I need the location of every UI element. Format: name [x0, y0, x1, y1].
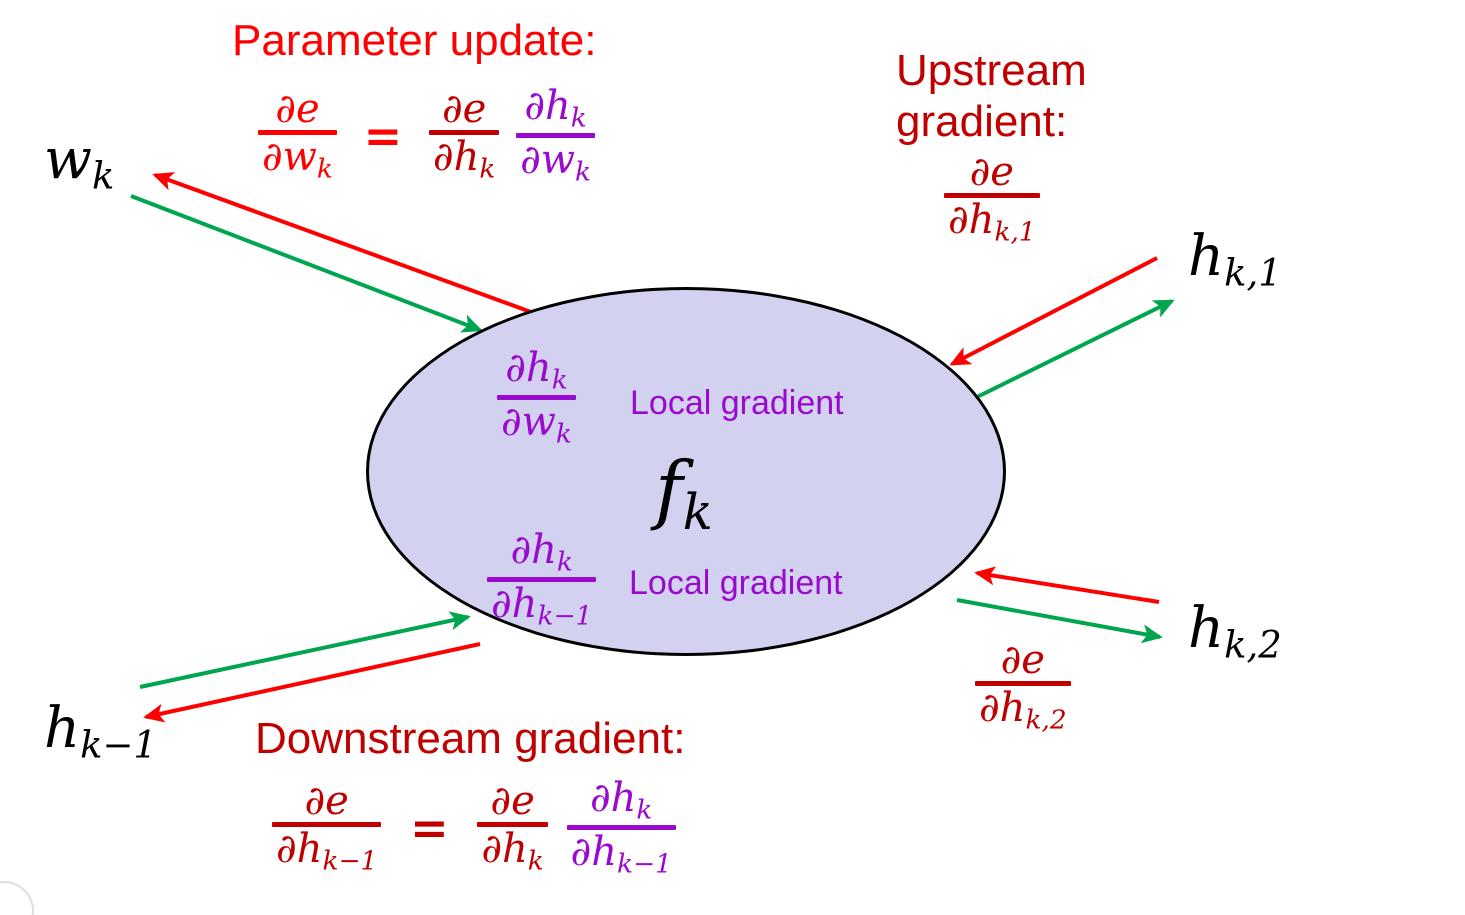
output-1-label: hk,1 — [1188, 229, 1282, 292]
pu-rhs1-num: ∂e — [442, 86, 486, 132]
arrow-backward-node-to-w — [155, 175, 531, 312]
o2g-den: ∂h — [979, 685, 1025, 731]
local-gradient-bottom-caption: Local gradient — [629, 565, 843, 601]
dg-rhs2-den: ∂h — [571, 829, 617, 875]
downstream-gradient-equation: ∂e ∂hk−1 = ∂e ∂hk ∂hk ∂hk−1 — [272, 778, 676, 878]
diagram-canvas: ∂hk ∂wk Local gradient fk ∂hk ∂hk−1 Loca… — [0, 0, 1465, 915]
parameter-update-lhs: ∂e ∂wk — [258, 89, 337, 183]
downstream-gradient-equals: = — [410, 805, 449, 851]
upstream-gradient-expression: ∂e ∂hk,1 — [944, 152, 1040, 246]
output-1-symbol: h — [1188, 224, 1224, 289]
output-1-sub: k,1 — [1224, 251, 1282, 294]
arrow-forward-w-to-node — [131, 196, 480, 330]
output-2-gradient-expression: ∂e ∂hk,2 — [975, 640, 1071, 734]
o2g-den-sub: k,2 — [1025, 704, 1066, 735]
pu-lhs-num: ∂e — [275, 86, 319, 132]
local-gradient-top-caption: Local gradient — [630, 385, 844, 421]
pu-rhs1-den: ∂h — [433, 134, 479, 180]
pu-rhs2-num: ∂h — [524, 83, 570, 129]
ug-num: ∂e — [970, 149, 1014, 195]
arrow-forward-node-to-hk1 — [975, 301, 1172, 398]
local-gradient-bottom-numerator: ∂h — [510, 527, 556, 573]
dg-lhs-den-sub: k−1 — [322, 845, 377, 876]
arrow-backward-hk1-to-node — [952, 258, 1157, 364]
parameter-update-rhs-first: ∂e ∂hk — [429, 89, 499, 183]
local-gradient-top-fraction: ∂hk ∂wk — [497, 348, 576, 448]
dg-lhs-num: ∂e — [305, 778, 349, 824]
local-gradient-top-numerator-sub: k — [552, 364, 568, 395]
downstream-lhs: ∂e ∂hk−1 — [272, 781, 381, 875]
parameter-update-title: Parameter update: — [232, 18, 596, 65]
function-symbol-base: f — [655, 445, 683, 533]
weight-symbol: w — [44, 127, 92, 192]
pu-rhs1-den-sub: k — [479, 153, 495, 184]
arrow-backward-node-to-hprev — [146, 644, 480, 717]
local-gradient-top-denominator: ∂w — [501, 399, 556, 445]
weight-sub: k — [92, 154, 114, 197]
output-2-label: hk,2 — [1188, 601, 1282, 664]
local-gradient-top-numerator: ∂h — [505, 345, 551, 391]
dg-rhs1-den: ∂h — [481, 826, 527, 872]
upstream-gradient-title-line1: Upstream — [896, 48, 1087, 95]
pu-rhs2-den: ∂w — [520, 137, 575, 183]
local-gradient-bottom-denominator-sub: k−1 — [537, 600, 592, 631]
dg-rhs2-num-sub: k — [636, 794, 652, 825]
ug-den-sub: k,1 — [994, 216, 1035, 247]
input-activation-label: hk−1 — [44, 701, 157, 764]
output-2-sub: k,2 — [1224, 623, 1282, 666]
parameter-update-equation: ∂e ∂wk = ∂e ∂hk ∂hk ∂wk — [258, 86, 595, 186]
local-gradient-bottom-denominator: ∂h — [491, 581, 537, 627]
arrow-forward-hprev-to-node — [140, 617, 468, 687]
ug-den: ∂h — [948, 197, 994, 243]
arrow-backward-hk2-to-node — [977, 573, 1159, 602]
arrow-forward-node-to-hk2 — [957, 600, 1160, 637]
downstream-gradient-title: Downstream gradient: — [255, 716, 685, 763]
pu-lhs-den-sub: k — [317, 153, 333, 184]
function-symbol: fk — [655, 452, 713, 537]
downstream-rhs-second: ∂hk ∂hk−1 — [567, 778, 676, 878]
o2g-num: ∂e — [1001, 637, 1045, 683]
function-symbol-sub: k — [683, 483, 713, 541]
output-2-symbol: h — [1188, 596, 1224, 661]
input-activation-sub: k−1 — [80, 723, 157, 766]
dg-rhs2-num: ∂h — [590, 775, 636, 821]
dg-rhs1-den-sub: k — [528, 845, 544, 876]
upstream-gradient-title-line2: gradient: — [896, 99, 1067, 146]
pu-rhs2-num-sub: k — [571, 102, 587, 133]
pu-rhs2-den-sub: k — [575, 156, 591, 187]
downstream-rhs-first: ∂e ∂hk — [477, 781, 547, 875]
dg-rhs2-den-sub: k−1 — [617, 848, 672, 879]
pu-lhs-den: ∂w — [262, 134, 317, 180]
local-gradient-bottom-fraction: ∂hk ∂hk−1 — [487, 530, 596, 630]
parameter-update-equals: = — [364, 113, 403, 159]
dg-lhs-den: ∂h — [276, 826, 322, 872]
dg-rhs1-num: ∂e — [490, 778, 534, 824]
weight-label: wk — [44, 132, 114, 195]
local-gradient-top-denominator-sub: k — [556, 418, 572, 449]
local-gradient-bottom-numerator-sub: k — [557, 546, 573, 577]
input-activation-symbol: h — [44, 696, 80, 761]
parameter-update-rhs-second: ∂hk ∂wk — [516, 86, 595, 186]
